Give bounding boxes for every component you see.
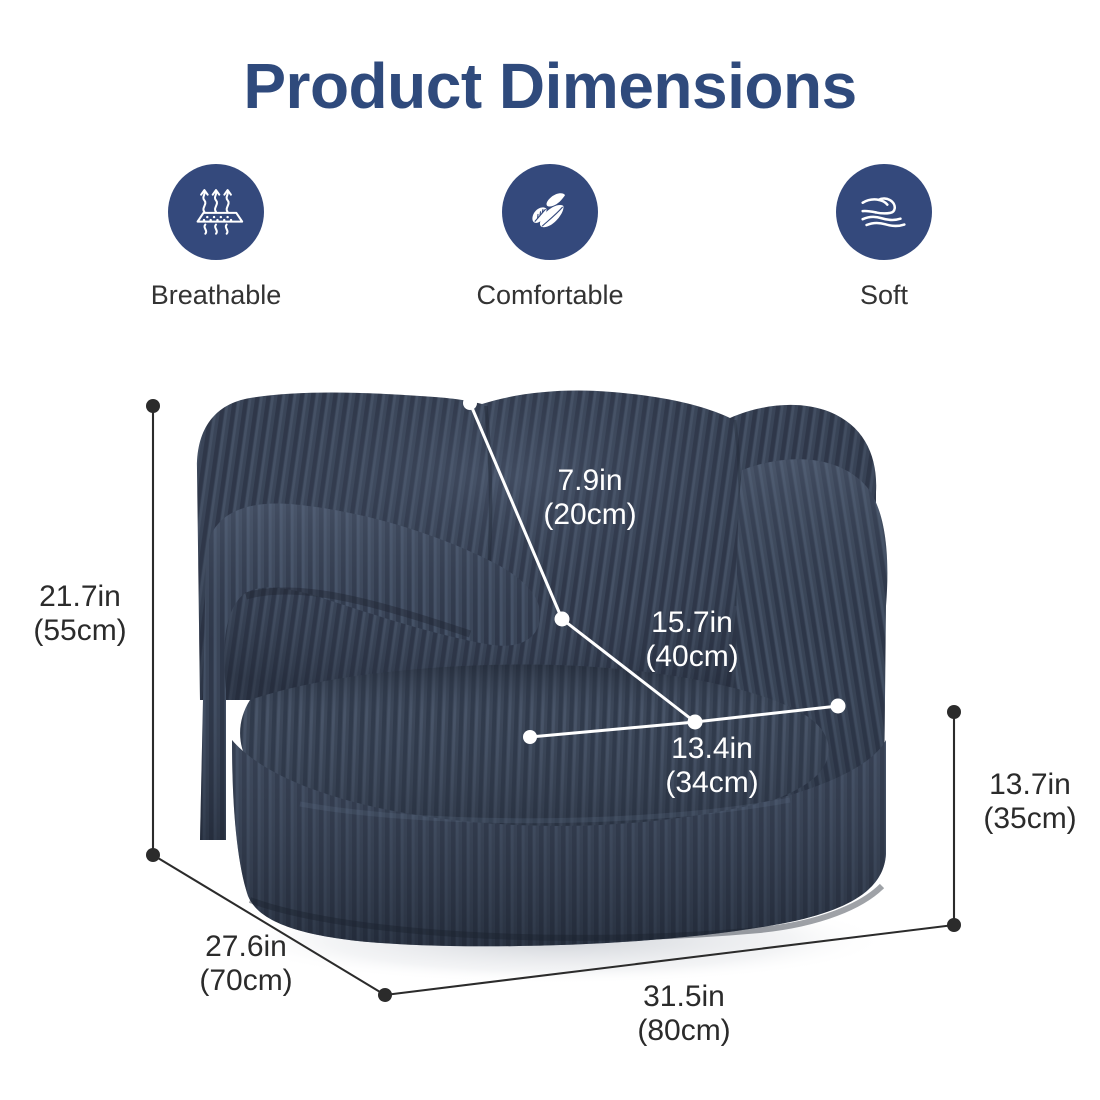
dimension-label-seat-height: 13.7in (35cm) — [968, 768, 1092, 835]
dimension-label-seat-width: 13.4in (34cm) — [650, 732, 774, 799]
dimension-label-seat-depth: 15.7in (40cm) — [630, 606, 754, 673]
dimension-label-backrest-height: 7.9in (20cm) — [528, 464, 652, 531]
seat-width-line-right — [695, 706, 838, 722]
dimension-label-width: 31.5in (80cm) — [600, 980, 768, 1047]
inner-dimension-lines — [470, 403, 838, 737]
dimension-label-height: 21.7in (55cm) — [18, 580, 142, 647]
product-dimensions-infographic: Product Dimensions — [0, 0, 1100, 1100]
dimension-label-depth: 27.6in (70cm) — [162, 930, 330, 997]
